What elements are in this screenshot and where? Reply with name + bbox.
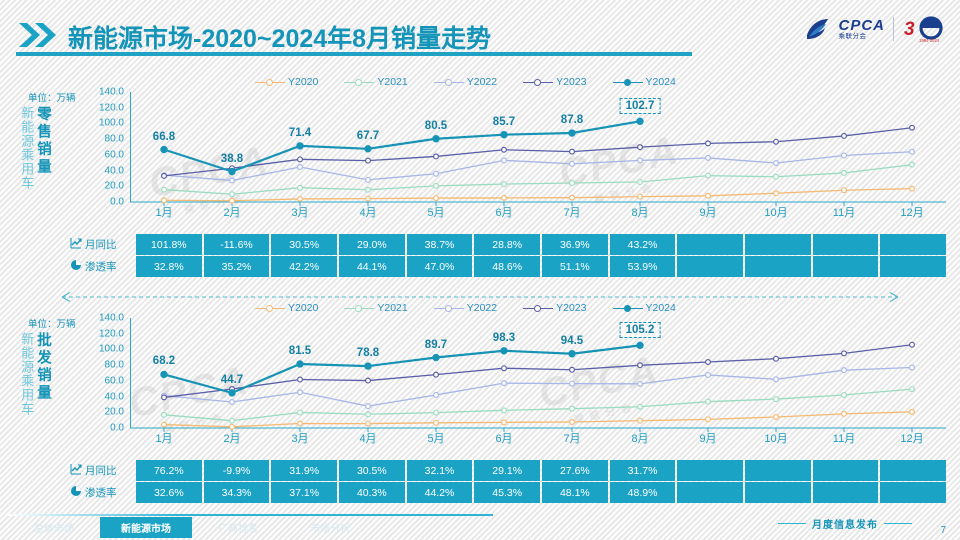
table-row-header: 月同比 [70, 460, 136, 481]
data-point-y2023[interactable] [910, 125, 915, 130]
data-point-y2021[interactable] [910, 387, 915, 392]
legend-swatch-y2024 [613, 303, 643, 314]
data-point-y2024[interactable] [365, 363, 371, 369]
table-cell: -9.9% [204, 460, 270, 481]
data-point-y2021[interactable] [434, 183, 439, 188]
data-point-y2023[interactable] [366, 158, 371, 163]
x-tick-label: 3月 [291, 204, 308, 220]
x-tick-label: 2月 [223, 430, 240, 446]
legend-label-y2020: Y2020 [288, 302, 318, 314]
page-title-sub: -2020~2024年8月销量走势 [193, 25, 491, 53]
table-cell: 43.2% [610, 234, 676, 255]
highlighted-value-label: 105.2 [620, 322, 661, 338]
y-tick-label: 120.0 [99, 102, 124, 113]
y-tick-label: 80.0 [105, 360, 124, 371]
data-point-y2022[interactable] [910, 149, 915, 154]
legend-label-y2022: Y2022 [467, 302, 497, 314]
data-point-y2021[interactable] [162, 187, 167, 192]
y-tick-label: 40.0 [105, 165, 124, 176]
table-row-label: 渗透率 [85, 259, 117, 274]
data-point-y2021[interactable] [230, 192, 235, 197]
data-point-y2020[interactable] [706, 417, 711, 422]
value-label: 94.5 [561, 335, 583, 347]
data-point-y2021[interactable] [366, 412, 371, 417]
data-point-y2020[interactable] [638, 418, 643, 423]
data-point-y2024[interactable] [501, 131, 507, 137]
data-point-y2024[interactable] [161, 146, 167, 152]
table-cell [880, 234, 946, 255]
x-tick-label: 7月 [563, 430, 580, 446]
data-point-y2023[interactable] [502, 147, 507, 152]
line-chart-icon [70, 237, 82, 252]
data-table-wholesale: 月同比76.2%-9.9%31.9%30.5%32.1%29.1%27.6%31… [70, 460, 946, 504]
x-tick-label: 12月 [900, 430, 923, 446]
table-cell: 31.9% [271, 460, 337, 481]
legend-item-y2020[interactable]: Y2020 [255, 76, 318, 88]
table-row-header: 月同比 [70, 234, 136, 255]
table-cell: 48.6% [474, 256, 540, 277]
table-cells: 32.8%35.2%42.2%44.1%47.0%48.6%51.1%53.9% [136, 256, 946, 277]
table-cell [677, 482, 743, 503]
cpca-swoosh-icon [804, 16, 830, 42]
unit-label-wholesale: 单位：万辆 [28, 316, 76, 330]
data-point-y2023[interactable] [162, 174, 167, 179]
y-tick-label: 20.0 [105, 407, 124, 418]
data-point-y2022[interactable] [774, 377, 779, 382]
table-cell: 28.8% [474, 234, 540, 255]
footer-tab-item[interactable]: 总体市场 [8, 517, 100, 538]
data-point-y2021[interactable] [774, 397, 779, 402]
data-point-y2022[interactable] [502, 381, 507, 386]
value-label: 80.5 [425, 120, 447, 132]
table-cell [813, 234, 879, 255]
logo-text: CPCA 乘联分会 [838, 18, 885, 41]
data-point-y2022[interactable] [298, 165, 303, 170]
x-axis-labels-wholesale: 1月2月3月4月5月6月7月8月9月10月11月12月 [130, 430, 946, 446]
data-point-y2023[interactable] [298, 157, 303, 162]
data-point-y2022[interactable] [230, 400, 235, 405]
value-label: 78.8 [357, 347, 379, 359]
legend-label-y2021: Y2021 [377, 302, 407, 314]
x-tick-label: 8月 [631, 204, 648, 220]
table-row: 渗透率32.8%35.2%42.2%44.1%47.0%48.6%51.1%53… [70, 256, 946, 277]
data-point-y2021[interactable] [706, 399, 711, 404]
data-point-y2023[interactable] [638, 363, 643, 368]
legend-swatch-y2021 [344, 77, 374, 88]
x-tick-label: 5月 [427, 204, 444, 220]
y-tick-label: 60.0 [105, 149, 124, 160]
data-point-y2020[interactable] [434, 420, 439, 425]
table-cell: 34.3% [204, 482, 270, 503]
y-tick-label: 0.0 [110, 197, 124, 208]
data-point-y2024[interactable] [569, 130, 575, 136]
data-point-y2022[interactable] [774, 161, 779, 166]
footer-tabs: 总体市场新能源市场厂商排名市场分析 [8, 517, 376, 538]
data-point-y2023[interactable] [434, 154, 439, 159]
pie-chart-icon [70, 485, 82, 500]
data-point-y2020[interactable] [230, 424, 235, 429]
table-row-header: 渗透率 [70, 482, 136, 503]
x-tick-label: 11月 [833, 204, 855, 220]
logo-name: CPCA [838, 18, 885, 33]
y-tick-label: 80.0 [105, 134, 124, 145]
data-point-y2024[interactable] [365, 146, 371, 152]
data-point-y2022[interactable] [366, 177, 371, 182]
table-row-label: 月同比 [85, 463, 117, 478]
value-label: 98.3 [493, 332, 515, 344]
data-point-y2020[interactable] [434, 196, 439, 201]
table-cell: 51.1% [542, 256, 608, 277]
svg-text:1994-2024: 1994-2024 [919, 38, 940, 43]
legend-swatch-y2022 [434, 77, 464, 88]
legend-swatch-y2023 [523, 303, 553, 314]
page-header: 新能源市场-2020~2024年8月销量走势 CPCA 乘联分会 3 1994-… [0, 0, 960, 62]
section-wholesale: 单位：万辆 新能源乘用车 批发销量 Y2020Y2021Y2022Y2023Y2… [0, 300, 960, 514]
table-cell [745, 256, 811, 277]
series-line-y2020 [164, 412, 912, 427]
legend-label-y2021: Y2021 [377, 76, 407, 88]
data-point-y2022[interactable] [366, 404, 371, 409]
footer-tab-active[interactable]: 新能源市场 [100, 517, 192, 538]
data-point-y2024[interactable] [297, 361, 303, 367]
data-point-y2023[interactable] [570, 367, 575, 372]
footer-brand-line-left [778, 523, 806, 524]
data-point-y2020[interactable] [502, 196, 507, 201]
table-row: 月同比76.2%-9.9%31.9%30.5%32.1%29.1%27.6%31… [70, 460, 946, 481]
data-point-y2023[interactable] [774, 139, 779, 144]
data-point-y2020[interactable] [774, 191, 779, 196]
data-point-y2022[interactable] [230, 178, 235, 183]
x-tick-label: 7月 [563, 204, 580, 220]
data-point-y2024[interactable] [161, 371, 167, 377]
data-point-y2024[interactable] [637, 342, 643, 348]
table-cell [813, 482, 879, 503]
data-point-y2022[interactable] [638, 158, 643, 163]
table-cell: 45.3% [474, 482, 540, 503]
data-point-y2023[interactable] [638, 145, 643, 150]
plot-area-retail: 66.838.871.467.780.585.787.8102.7 [130, 92, 946, 202]
table-cells: 32.6%34.3%37.1%40.3%44.2%45.3%48.1%48.9% [136, 482, 946, 503]
data-point-y2022[interactable] [842, 368, 847, 373]
data-point-y2021[interactable] [638, 180, 643, 185]
table-cell: 27.6% [542, 460, 608, 481]
table-cell: 32.1% [407, 460, 473, 481]
data-point-y2022[interactable] [706, 373, 711, 378]
table-cell: 53.9% [610, 256, 676, 277]
chart-legend-wholesale: Y2020Y2021Y2022Y2023Y2024 [255, 302, 676, 314]
y-axis-labels-wholesale: 0.020.040.060.080.0100.0120.0140.0 [88, 318, 124, 428]
data-point-y2021[interactable] [774, 174, 779, 179]
pie-chart-icon [70, 259, 82, 274]
y-tick-label: 140.0 [99, 87, 124, 98]
data-point-y2020[interactable] [570, 420, 575, 425]
x-tick-label: 12月 [900, 204, 923, 220]
chart-retail: 0.020.040.060.080.0100.0120.0140.0 66.83… [88, 92, 946, 220]
table-cell [677, 460, 743, 481]
x-tick-label: 10月 [764, 204, 787, 220]
y-tick-label: 60.0 [105, 375, 124, 386]
legend-item-y2024[interactable]: Y2024 [613, 76, 676, 88]
data-point-y2021[interactable] [570, 406, 575, 411]
x-tick-label: 9月 [699, 204, 716, 220]
table-cell: 35.2% [204, 256, 270, 277]
value-label: 81.5 [289, 345, 311, 357]
data-point-y2021[interactable] [910, 162, 915, 167]
data-point-y2020[interactable] [298, 197, 303, 202]
table-cell: 38.7% [407, 234, 473, 255]
data-point-y2021[interactable] [502, 408, 507, 413]
legend-item-y2022[interactable]: Y2022 [434, 76, 497, 88]
data-table-retail: 月同比101.8%-11.6%30.5%29.0%38.7%28.8%36.9%… [70, 234, 946, 278]
chart-wholesale: 0.020.040.060.080.0100.0120.0140.0 68.24… [88, 318, 946, 446]
legend-swatch-y2020 [255, 77, 285, 88]
y-tick-label: 120.0 [99, 328, 124, 339]
y-tick-label: 100.0 [99, 344, 124, 355]
data-point-y2020[interactable] [638, 194, 643, 199]
legend-swatch-y2023 [523, 77, 553, 88]
vertical-labels-wholesale: 新能源乘用车 批发销量 [20, 332, 50, 416]
data-point-y2021[interactable] [502, 182, 507, 187]
data-point-y2020[interactable] [298, 421, 303, 426]
data-point-y2024[interactable] [229, 390, 235, 396]
data-point-y2022[interactable] [434, 171, 439, 176]
legend-swatch-y2024 [613, 77, 643, 88]
legend-item-y2021[interactable]: Y2021 [344, 76, 407, 88]
series-line-y2023 [164, 128, 912, 176]
x-tick-label: 3月 [291, 430, 308, 446]
data-point-y2023[interactable] [570, 149, 575, 154]
data-point-y2021[interactable] [162, 412, 167, 417]
y-tick-label: 100.0 [99, 118, 124, 129]
data-point-y2023[interactable] [502, 366, 507, 371]
data-point-y2021[interactable] [842, 393, 847, 398]
series-line-y2021 [164, 165, 912, 195]
plot-area-wholesale: 68.244.781.578.889.798.394.5105.2 [130, 318, 946, 428]
data-point-y2024[interactable] [637, 118, 643, 124]
table-cell [880, 482, 946, 503]
page-title-main: 新能源市场 [68, 25, 193, 53]
data-point-y2023[interactable] [842, 351, 847, 356]
footer-tab-item[interactable]: 厂商排名 [192, 517, 284, 538]
table-cell [880, 460, 946, 481]
table-cell: 36.9% [542, 234, 608, 255]
title-underline [16, 52, 692, 56]
value-label: 67.7 [357, 130, 379, 142]
data-point-y2022[interactable] [842, 153, 847, 158]
page-number: 7 [940, 525, 946, 536]
vertical-label-metric-retail: 零售销量 [35, 106, 50, 190]
data-point-y2021[interactable] [638, 404, 643, 409]
legend-label-y2023: Y2023 [556, 302, 586, 314]
data-point-y2020[interactable] [230, 198, 235, 203]
table-cell: 48.1% [542, 482, 608, 503]
legend-label-y2024: Y2024 [646, 76, 676, 88]
x-tick-label: 11月 [833, 430, 855, 446]
data-point-y2023[interactable] [706, 360, 711, 365]
legend-label-y2023: Y2023 [556, 76, 586, 88]
data-point-y2021[interactable] [366, 187, 371, 192]
legend-item-y2020[interactable]: Y2020 [255, 302, 318, 314]
value-label: 71.4 [289, 127, 311, 139]
table-cell [880, 256, 946, 277]
data-point-y2020[interactable] [570, 195, 575, 200]
legend-label-y2022: Y2022 [467, 76, 497, 88]
legend-item-y2023[interactable]: Y2023 [523, 76, 586, 88]
legend-label-y2020: Y2020 [288, 76, 318, 88]
legend-swatch-y2022 [434, 303, 464, 314]
chart-lines [130, 318, 946, 434]
table-row-header: 渗透率 [70, 256, 136, 277]
y-axis-labels-retail: 0.020.040.060.080.0100.0120.0140.0 [88, 92, 124, 202]
table-cell [677, 256, 743, 277]
table-cells: 76.2%-9.9%31.9%30.5%32.1%29.1%27.6%31.7% [136, 460, 946, 481]
footer-rule [8, 514, 493, 516]
data-point-y2022[interactable] [570, 381, 575, 386]
data-point-y2024[interactable] [433, 354, 439, 360]
table-cell: 42.2% [271, 256, 337, 277]
highlighted-value-label: 102.7 [620, 98, 661, 114]
y-tick-label: 40.0 [105, 391, 124, 402]
x-tick-label: 6月 [495, 204, 512, 220]
y-tick-label: 0.0 [110, 423, 124, 434]
footer-brand: 月度信息发布 [778, 516, 912, 531]
data-point-y2020[interactable] [910, 409, 915, 414]
unit-label-retail: 单位：万辆 [28, 90, 76, 104]
data-point-y2020[interactable] [162, 198, 167, 203]
data-point-y2022[interactable] [570, 161, 575, 166]
x-tick-label: 4月 [359, 204, 376, 220]
data-point-y2020[interactable] [366, 196, 371, 201]
table-cell: 29.0% [339, 234, 405, 255]
logo-block: CPCA 乘联分会 3 1994-2024 [804, 12, 948, 46]
table-cell [677, 234, 743, 255]
value-label: 44.7 [221, 374, 243, 386]
logo-name-cn: 乘联分会 [838, 34, 885, 41]
data-point-y2022[interactable] [910, 365, 915, 370]
legend-label-y2024: Y2024 [646, 302, 676, 314]
data-point-y2021[interactable] [298, 410, 303, 415]
data-point-y2022[interactable] [434, 393, 439, 398]
data-point-y2021[interactable] [570, 181, 575, 186]
table-cell: -11.6% [204, 234, 270, 255]
x-tick-label: 2月 [223, 204, 240, 220]
y-tick-label: 140.0 [99, 313, 124, 324]
data-point-y2020[interactable] [502, 420, 507, 425]
x-tick-label: 1月 [155, 204, 172, 220]
value-label: 85.7 [493, 116, 515, 128]
x-tick-label: 9月 [699, 430, 716, 446]
page-footer: 总体市场新能源市场厂商排名市场分析 月度信息发布 7 [0, 514, 960, 540]
x-tick-label: 6月 [495, 430, 512, 446]
data-point-y2022[interactable] [298, 390, 303, 395]
value-label: 68.2 [153, 355, 175, 367]
x-tick-label: 1月 [155, 430, 172, 446]
table-cell [745, 234, 811, 255]
table-cell [813, 460, 879, 481]
section-retail: 单位：万辆 新能源乘用车 零售销量 Y2020Y2021Y2022Y2023Y2… [0, 74, 960, 288]
value-label: 38.8 [221, 153, 243, 165]
legend-item-y2022[interactable]: Y2022 [434, 302, 497, 314]
table-cell: 40.3% [339, 482, 405, 503]
line-chart-icon [70, 463, 82, 478]
table-row: 月同比101.8%-11.6%30.5%29.0%38.7%28.8%36.9%… [70, 234, 946, 255]
table-cell: 32.8% [136, 256, 202, 277]
data-point-y2023[interactable] [366, 378, 371, 383]
value-label: 66.8 [153, 131, 175, 143]
data-point-y2023[interactable] [842, 134, 847, 139]
data-point-y2022[interactable] [638, 381, 643, 386]
table-cells: 101.8%-11.6%30.5%29.0%38.7%28.8%36.9%43.… [136, 234, 946, 255]
data-point-y2022[interactable] [706, 156, 711, 161]
data-point-y2020[interactable] [842, 188, 847, 193]
data-point-y2021[interactable] [706, 173, 711, 178]
legend-item-y2024[interactable]: Y2024 [613, 302, 676, 314]
data-point-y2022[interactable] [502, 158, 507, 163]
data-point-y2023[interactable] [434, 372, 439, 377]
data-point-y2023[interactable] [298, 377, 303, 382]
data-point-y2023[interactable] [774, 356, 779, 361]
table-cell: 76.2% [136, 460, 202, 481]
x-tick-label: 5月 [427, 430, 444, 446]
table-cell [745, 460, 811, 481]
table-cell: 101.8% [136, 234, 202, 255]
legend-item-y2021[interactable]: Y2021 [344, 302, 407, 314]
vertical-label-metric-wholesale: 批发销量 [35, 332, 50, 416]
data-point-y2024[interactable] [297, 143, 303, 149]
footer-brand-text: 月度信息发布 [812, 516, 878, 531]
footer-tab-item[interactable]: 市场分析 [284, 517, 376, 538]
table-cell: 47.0% [407, 256, 473, 277]
data-point-y2020[interactable] [366, 421, 371, 426]
svg-text:3: 3 [904, 19, 915, 40]
logo-divider [893, 17, 894, 41]
table-row: 渗透率32.6%34.3%37.1%40.3%44.2%45.3%48.1%48… [70, 482, 946, 503]
data-point-y2021[interactable] [230, 418, 235, 423]
value-label: 87.8 [561, 114, 583, 126]
table-cell [745, 482, 811, 503]
data-point-y2021[interactable] [434, 410, 439, 415]
table-cell: 31.7% [610, 460, 676, 481]
data-point-y2020[interactable] [706, 193, 711, 198]
data-point-y2024[interactable] [433, 136, 439, 142]
data-point-y2023[interactable] [706, 141, 711, 146]
data-point-y2020[interactable] [162, 422, 167, 427]
chart-legend-retail: Y2020Y2021Y2022Y2023Y2024 [255, 76, 676, 88]
data-point-y2024[interactable] [569, 351, 575, 357]
data-point-y2024[interactable] [501, 348, 507, 354]
data-point-y2021[interactable] [842, 171, 847, 176]
legend-item-y2023[interactable]: Y2023 [523, 302, 586, 314]
x-axis-labels-retail: 1月2月3月4月5月6月7月8月9月10月11月12月 [130, 204, 946, 220]
data-point-y2020[interactable] [842, 411, 847, 416]
chart-lines [130, 92, 946, 208]
table-cell [813, 256, 879, 277]
data-point-y2023[interactable] [162, 395, 167, 400]
double-chevron-right-icon [18, 22, 62, 48]
data-point-y2020[interactable] [774, 415, 779, 420]
data-point-y2023[interactable] [910, 342, 915, 347]
table-cell: 48.9% [610, 482, 676, 503]
x-tick-label: 10月 [764, 430, 787, 446]
vertical-labels-retail: 新能源乘用车 零售销量 [20, 106, 50, 190]
page-title: 新能源市场-2020~2024年8月销量走势 [68, 19, 491, 55]
data-point-y2021[interactable] [298, 185, 303, 190]
data-point-y2020[interactable] [910, 186, 915, 191]
y-tick-label: 20.0 [105, 181, 124, 192]
table-cell: 30.5% [271, 234, 337, 255]
data-point-y2024[interactable] [229, 168, 235, 174]
table-cell: 30.5% [339, 460, 405, 481]
